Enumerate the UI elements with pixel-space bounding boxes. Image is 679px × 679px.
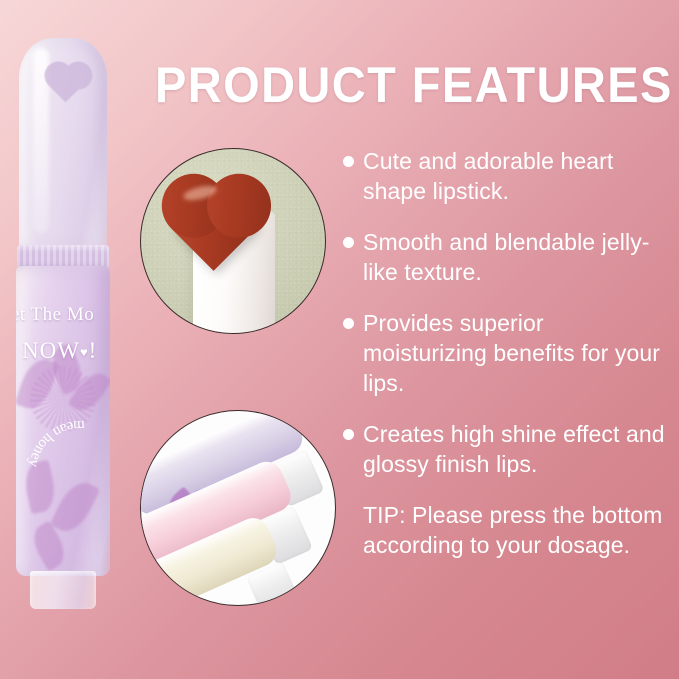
feature-text: Smooth and blendable jelly-like texture. xyxy=(363,227,665,287)
product-features-poster: eet The Mo NOW♥! mean honey xyxy=(0,0,679,679)
feature-text: Creates high shine effect and glossy fin… xyxy=(363,419,665,479)
feature-item-tip: TIP: Please press the bottom according t… xyxy=(343,500,665,560)
bullet-point-placeholder xyxy=(343,510,354,521)
photo-three-lipstick-tubes xyxy=(140,410,336,606)
tube-base xyxy=(30,571,96,609)
feature-item: Smooth and blendable jelly-like texture. xyxy=(343,227,665,287)
tube-label-exclaim: ! xyxy=(89,338,98,363)
feature-item: Provides superior moisturizing benefits … xyxy=(343,308,665,398)
curved-label-text: mean honey xyxy=(25,417,85,469)
heart-icon xyxy=(47,64,87,100)
tube-label-now: NOW xyxy=(22,338,80,363)
bullet-point-icon xyxy=(343,237,354,248)
page-title: PRODUCT FEATURES xyxy=(155,56,673,114)
feature-item: Cute and adorable heart shape lipstick. xyxy=(343,146,665,206)
tip-text: TIP: Please press the bottom according t… xyxy=(363,500,665,560)
lipstick-body: eet The Mo NOW♥! mean honey xyxy=(16,266,110,576)
heart-glyph-icon: ♥ xyxy=(80,345,89,360)
feature-list: Cute and adorable heart shape lipstick. … xyxy=(343,146,665,581)
tube-label-line-1: eet The Mo xyxy=(16,304,110,326)
heart-lipstick-bullet xyxy=(165,171,273,267)
lipstick-cap xyxy=(19,38,107,250)
feature-text: Cute and adorable heart shape lipstick. xyxy=(363,146,665,206)
lipstick-tube-illustration: eet The Mo NOW♥! mean honey xyxy=(14,38,112,610)
tube-label-line-2: NOW♥! xyxy=(22,338,110,364)
tube-curved-label: mean honey xyxy=(32,416,102,526)
photo-heart-lipstick-bullet xyxy=(140,148,326,334)
feature-item: Creates high shine effect and glossy fin… xyxy=(343,419,665,479)
bullet-point-icon xyxy=(343,156,354,167)
feature-text: Provides superior moisturizing benefits … xyxy=(363,308,665,398)
bullet-point-icon xyxy=(343,429,354,440)
bullet-point-icon xyxy=(343,318,354,329)
